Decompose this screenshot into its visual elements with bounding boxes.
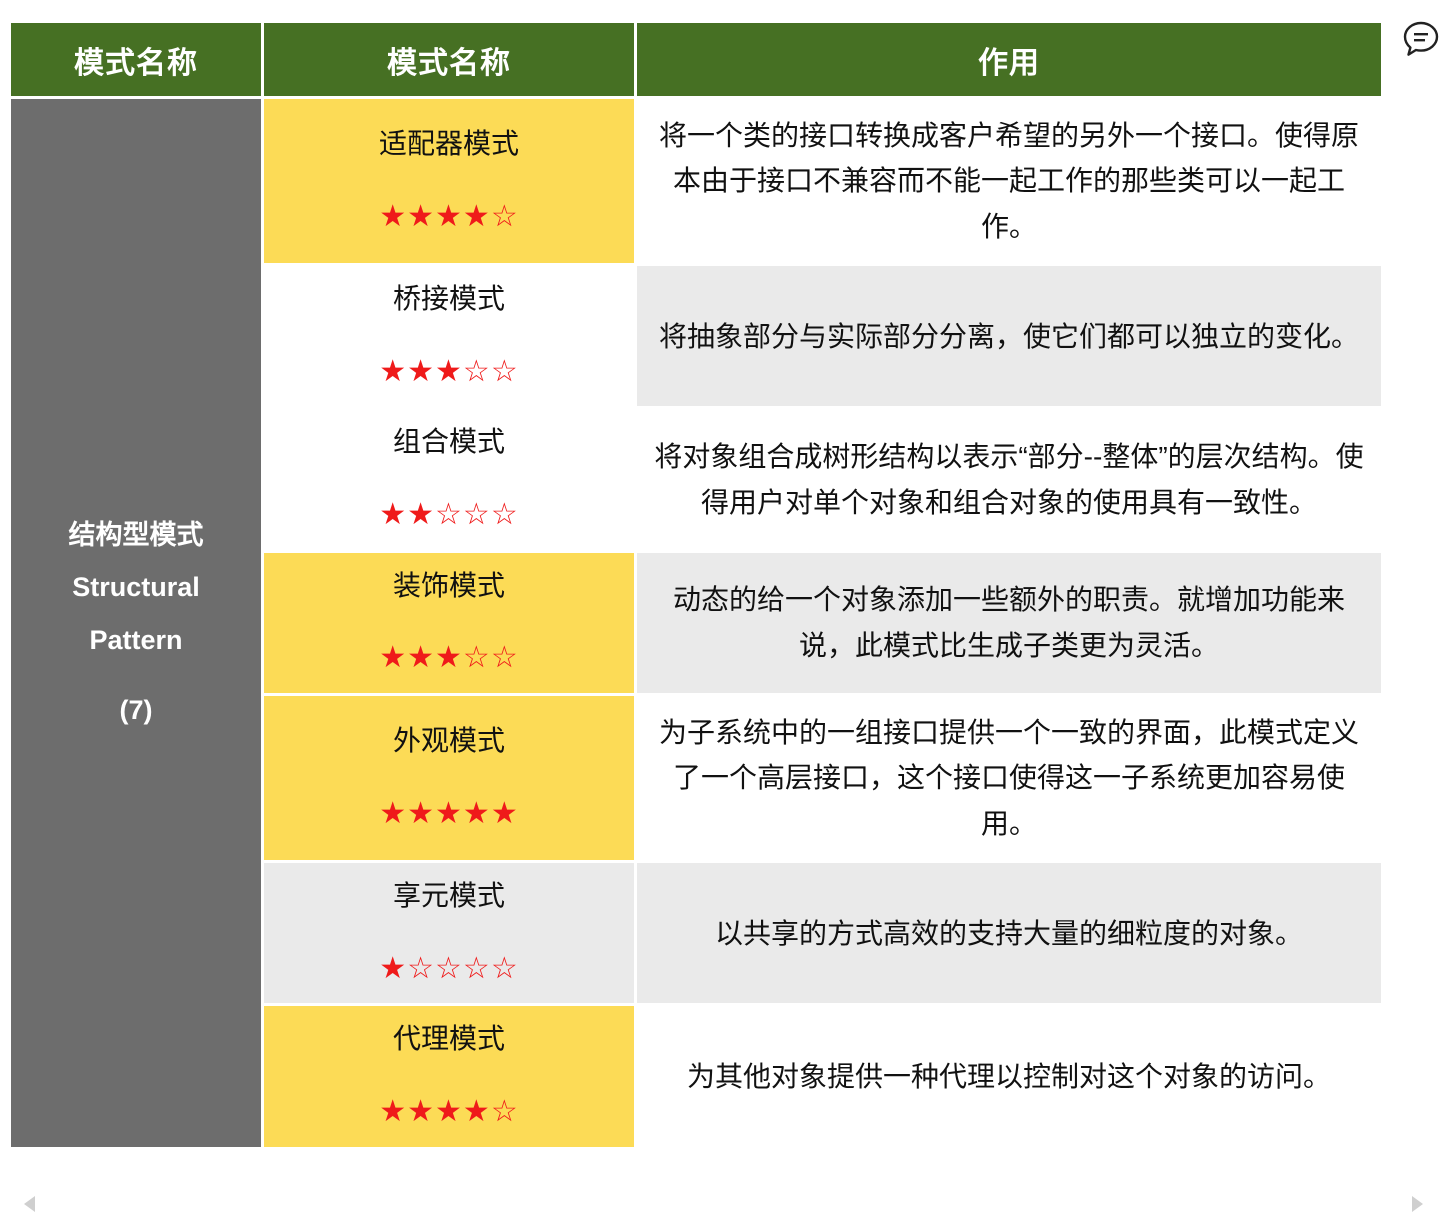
- pattern-rating-stars: ★★★☆☆: [276, 638, 622, 679]
- pattern-name-label: 桥接模式: [276, 280, 622, 318]
- pattern-name-label: 代理模式: [276, 1020, 622, 1058]
- pattern-name-label: 享元模式: [276, 877, 622, 915]
- horizontal-scrollbar[interactable]: [0, 1190, 1456, 1218]
- pattern-description-cell: 为子系统中的一组接口提供一个一致的界面，此模式定义了一个高层接口，这个接口使得这…: [637, 696, 1381, 860]
- pattern-description-cell: 动态的给一个对象添加一些额外的职责。就增加功能来说，此模式比生成子类更为灵活。: [637, 553, 1381, 693]
- pattern-name-label: 外观模式: [276, 722, 622, 760]
- column-header-pattern-name: 模式名称: [264, 23, 634, 96]
- group-spacer: [23, 666, 249, 684]
- scrollbar-track[interactable]: [40, 1200, 1396, 1208]
- pattern-description-cell: 将抽象部分与实际部分分离，使它们都可以独立的变化。: [637, 266, 1381, 406]
- pattern-description-cell: 为其他对象提供一种代理以控制对这个对象的访问。: [637, 1006, 1381, 1146]
- group-count: (7): [23, 684, 249, 737]
- group-title-cn: 结构型模式: [23, 509, 249, 562]
- pattern-rating-stars: ★★★★★: [276, 794, 622, 835]
- column-header-purpose: 作用: [637, 23, 1381, 96]
- table-body: 结构型模式StructuralPattern(7)适配器模式★★★★☆将一个类的…: [11, 99, 1381, 1147]
- pattern-name-cell: 桥接模式★★★☆☆: [264, 266, 634, 406]
- pattern-description-cell: 以共享的方式高效的支持大量的细粒度的对象。: [637, 863, 1381, 1003]
- pattern-rating-stars: ★☆☆☆☆: [276, 949, 622, 990]
- column-header-category: 模式名称: [11, 23, 261, 96]
- pattern-rating-stars: ★★☆☆☆: [276, 495, 622, 536]
- pattern-name-cell: 外观模式★★★★★: [264, 696, 634, 860]
- design-pattern-table: 模式名称 模式名称 作用 结构型模式StructuralPattern(7)适配…: [8, 20, 1384, 1150]
- group-title-en-line1: Structural: [23, 561, 249, 614]
- pattern-name-cell: 装饰模式★★★☆☆: [264, 553, 634, 693]
- pattern-rating-stars: ★★★★☆: [276, 1092, 622, 1133]
- pattern-name-cell: 代理模式★★★★☆: [264, 1006, 634, 1146]
- pattern-name-cell: 适配器模式★★★★☆: [264, 99, 634, 263]
- pattern-category-cell: 结构型模式StructuralPattern(7): [11, 99, 261, 1147]
- table-row: 结构型模式StructuralPattern(7)适配器模式★★★★☆将一个类的…: [11, 99, 1381, 263]
- pattern-description-cell: 将一个类的接口转换成客户希望的另外一个接口。使得原本由于接口不兼容而不能一起工作…: [637, 99, 1381, 263]
- pattern-rating-stars: ★★★★☆: [276, 197, 622, 238]
- pattern-description-cell: 将对象组合成树形结构以表示“部分--整体”的层次结构。使得用户对单个对象和组合对…: [637, 409, 1381, 549]
- table-header: 模式名称 模式名称 作用: [11, 23, 1381, 96]
- pattern-name-label: 适配器模式: [276, 125, 622, 163]
- header-row: 模式名称 模式名称 作用: [11, 23, 1381, 96]
- comment-bubble-icon[interactable]: [1398, 16, 1444, 62]
- pattern-name-label: 装饰模式: [276, 567, 622, 605]
- chevron-left-icon[interactable]: [24, 1196, 35, 1212]
- pattern-rating-stars: ★★★☆☆: [276, 352, 622, 393]
- pattern-name-cell: 组合模式★★☆☆☆: [264, 409, 634, 549]
- pattern-name-label: 组合模式: [276, 423, 622, 461]
- pattern-name-cell: 享元模式★☆☆☆☆: [264, 863, 634, 1003]
- page-root: 模式名称 模式名称 作用 结构型模式StructuralPattern(7)适配…: [0, 0, 1456, 1218]
- group-title-en-line2: Pattern: [23, 614, 249, 667]
- chevron-right-icon[interactable]: [1412, 1196, 1423, 1212]
